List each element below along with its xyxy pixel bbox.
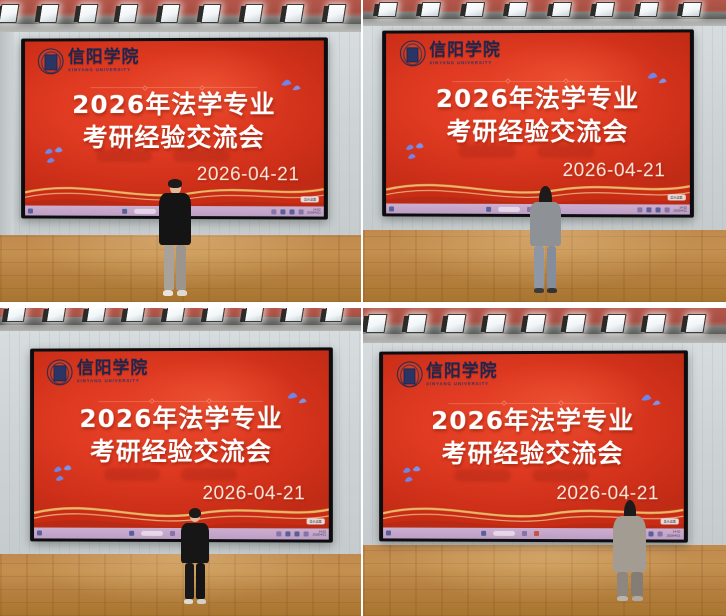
person-figure bbox=[159, 181, 191, 296]
university-name-cn: 信阳学院 bbox=[68, 49, 140, 66]
university-crest-icon bbox=[396, 362, 422, 388]
person-shoe bbox=[632, 596, 643, 601]
battery-icon[interactable] bbox=[298, 209, 303, 214]
taskbar-clock[interactable]: 14:52 2026/4/21 bbox=[666, 531, 680, 538]
stage-light-icon bbox=[551, 2, 572, 17]
person-torso bbox=[181, 523, 210, 563]
stage-light-icon bbox=[284, 308, 305, 322]
stage-light-icon bbox=[284, 4, 305, 23]
taskbar-center-group[interactable] bbox=[42, 531, 276, 537]
stage-light-icon bbox=[38, 4, 59, 23]
show-desktop-chip[interactable]: 显示桌面 bbox=[667, 194, 685, 200]
stage-light-icon bbox=[594, 2, 615, 17]
person-shoe bbox=[617, 596, 628, 601]
person-leg bbox=[534, 246, 544, 288]
battery-icon[interactable] bbox=[657, 532, 662, 537]
person-leg bbox=[196, 563, 205, 599]
person-shoes bbox=[613, 596, 646, 601]
person-shoes bbox=[530, 288, 561, 293]
stage-light-icon bbox=[125, 308, 146, 322]
ceiling-light-row bbox=[0, 2, 361, 32]
weather-widget-icon[interactable] bbox=[389, 206, 394, 211]
stage-floor bbox=[363, 545, 726, 616]
photo-panel-bottom-left[interactable]: 信阳学院 XINYANG UNIVERSITY 2026年法学专业 考研经验交流… bbox=[0, 308, 363, 616]
stage-light-icon bbox=[463, 2, 484, 17]
person-figure bbox=[613, 501, 646, 600]
screen-title-block: 2026年法学专业 考研经验交流会 bbox=[383, 404, 683, 470]
screen-date: 2026-04-21 bbox=[202, 483, 305, 505]
stage-scene: 信阳学院 XINYANG UNIVERSITY 2026年法学专业 考研经验交流… bbox=[0, 0, 361, 302]
taskbar-left-group[interactable] bbox=[389, 206, 394, 211]
person-leg bbox=[631, 572, 643, 596]
clock-date: 2026/4/21 bbox=[666, 534, 680, 537]
person-shoes bbox=[181, 599, 210, 604]
ceiling-light-row bbox=[363, 0, 726, 24]
bird-decoration-icon bbox=[285, 388, 311, 408]
battery-icon[interactable] bbox=[664, 207, 669, 212]
person-shoe bbox=[177, 290, 187, 296]
person-leg bbox=[176, 245, 186, 290]
clock-date: 2026/4/21 bbox=[674, 210, 688, 213]
battery-icon[interactable] bbox=[303, 531, 308, 536]
search-input[interactable] bbox=[141, 531, 163, 536]
photo-panel-top-right[interactable]: 信阳学院 XINYANG UNIVERSITY 2026年法学专业 考研经验交流… bbox=[363, 0, 726, 308]
stage-light-icon bbox=[376, 2, 397, 17]
university-logo: 信阳学院 XINYANG UNIVERSITY bbox=[47, 359, 148, 385]
stage-light-icon bbox=[244, 308, 265, 322]
taskbar-center-group[interactable] bbox=[394, 206, 637, 212]
stage-light-icon bbox=[165, 308, 186, 322]
screen-title-block: 2026年法学专业 考研经验交流会 bbox=[34, 402, 329, 468]
stage-light-icon bbox=[507, 2, 528, 17]
stage-light-icon bbox=[445, 314, 467, 333]
person-shoes bbox=[159, 290, 191, 296]
screen-date: 2026-04-21 bbox=[197, 163, 300, 185]
bird-decoration-icon bbox=[43, 146, 73, 170]
person-legs bbox=[613, 572, 646, 596]
volume-icon[interactable] bbox=[294, 531, 299, 536]
stage-light-icon bbox=[638, 2, 659, 17]
stage-light-icon bbox=[78, 4, 99, 23]
stage-light-icon bbox=[205, 308, 226, 322]
wall-side-panel bbox=[0, 32, 14, 236]
university-logo: 信阳学院 XINYANG UNIVERSITY bbox=[396, 362, 497, 388]
clock-date: 2026/4/21 bbox=[313, 534, 327, 537]
photo-panel-top-left[interactable]: 信阳学院 XINYANG UNIVERSITY 2026年法学专业 考研经验交流… bbox=[0, 0, 363, 308]
university-logo: 信阳学院 XINYANG UNIVERSITY bbox=[38, 48, 139, 74]
stage-light-icon bbox=[525, 314, 547, 333]
show-desktop-chip[interactable]: 显示桌面 bbox=[301, 196, 319, 202]
volume-icon[interactable] bbox=[655, 207, 660, 212]
person-shoe bbox=[163, 290, 173, 296]
stage-light-icon bbox=[118, 4, 139, 23]
person-legs bbox=[159, 245, 191, 290]
person-leg bbox=[617, 572, 629, 596]
university-logo: 信阳学院 XINYANG UNIVERSITY bbox=[400, 41, 501, 67]
volume-icon[interactable] bbox=[289, 209, 294, 214]
clock-date: 2026/4/21 bbox=[307, 211, 321, 214]
explorer-icon[interactable] bbox=[637, 207, 642, 212]
stage-light-icon bbox=[46, 308, 67, 322]
stage-light-icon bbox=[242, 4, 263, 23]
photo-panel-bottom-right[interactable]: 信阳学院 XINYANG UNIVERSITY 2026年法学专业 考研经验交流… bbox=[363, 308, 726, 616]
stage-light-icon bbox=[645, 314, 667, 333]
person-torso bbox=[613, 516, 646, 572]
taskbar-tray-group[interactable]: 14:52 2026/4/21 bbox=[271, 208, 321, 215]
screen-title-line1: 2026年法学专业 bbox=[383, 404, 683, 437]
university-crest-icon bbox=[38, 48, 64, 74]
explorer-icon[interactable] bbox=[276, 531, 281, 536]
stage-light-icon bbox=[605, 314, 627, 333]
university-name-en: XINYANG UNIVERSITY bbox=[426, 382, 498, 387]
bird-decoration-icon bbox=[279, 75, 305, 95]
taskbar-clock[interactable]: 14:52 2026/4/21 bbox=[674, 206, 688, 213]
stage-light-icon bbox=[324, 308, 345, 322]
bird-decoration-icon bbox=[51, 464, 81, 488]
person-figure bbox=[181, 509, 210, 603]
stage-scene: 信阳学院 XINYANG UNIVERSITY 2026年法学专业 考研经验交流… bbox=[363, 308, 726, 616]
taskbar-left-group[interactable] bbox=[386, 531, 391, 536]
person-legs bbox=[181, 563, 210, 599]
wifi-icon[interactable] bbox=[280, 209, 285, 214]
person-leg bbox=[164, 245, 174, 290]
university-name-en: XINYANG UNIVERSITY bbox=[68, 68, 140, 73]
university-name-en: XINYANG UNIVERSITY bbox=[77, 379, 149, 384]
person-head bbox=[625, 501, 635, 513]
search-input[interactable] bbox=[493, 531, 515, 536]
person-torso bbox=[530, 202, 561, 246]
taskbar-tray-group[interactable]: 14:52 2026/4/21 bbox=[637, 206, 687, 213]
stage-light-icon bbox=[325, 4, 346, 23]
taskbar-clock[interactable]: 14:52 2026/4/21 bbox=[313, 531, 327, 538]
stage-light-icon bbox=[365, 314, 387, 333]
stage-scene: 信阳学院 XINYANG UNIVERSITY 2026年法学专业 考研经验交流… bbox=[0, 308, 361, 616]
stage-scene: 信阳学院 XINYANG UNIVERSITY 2026年法学专业 考研经验交流… bbox=[363, 0, 726, 302]
explorer-icon[interactable] bbox=[271, 209, 276, 214]
person-shoe bbox=[184, 599, 193, 604]
weather-widget-icon[interactable] bbox=[28, 208, 33, 213]
bird-decoration-icon bbox=[638, 391, 664, 411]
stage-light-icon bbox=[420, 2, 441, 17]
start-icon[interactable] bbox=[481, 531, 486, 536]
university-name-cn: 信阳学院 bbox=[77, 360, 149, 377]
university-name-cn: 信阳学院 bbox=[426, 363, 498, 380]
ceiling-light-row bbox=[363, 311, 726, 342]
bird-decoration-icon bbox=[404, 142, 434, 166]
search-input[interactable] bbox=[498, 207, 520, 212]
screen-date: 2026-04-21 bbox=[563, 160, 666, 182]
wifi-icon[interactable] bbox=[285, 531, 290, 536]
bird-decoration-icon bbox=[645, 69, 671, 89]
university-crest-icon bbox=[47, 359, 73, 385]
photo-collage-grid: 信阳学院 XINYANG UNIVERSITY 2026年法学专业 考研经验交流… bbox=[0, 0, 726, 616]
university-name-cn: 信阳学院 bbox=[429, 42, 501, 59]
stage-light-icon bbox=[201, 4, 222, 23]
person-torso bbox=[159, 193, 191, 245]
ceiling-light-row bbox=[0, 308, 361, 330]
stage-light-icon bbox=[159, 4, 180, 23]
person-shoe bbox=[197, 599, 206, 604]
university-name-en: XINYANG UNIVERSITY bbox=[429, 61, 501, 66]
taskbar-clock[interactable]: 14:52 2026/4/21 bbox=[307, 208, 321, 215]
taskbar-left-group[interactable] bbox=[28, 208, 33, 213]
start-icon[interactable] bbox=[122, 208, 127, 213]
person-head bbox=[170, 181, 181, 194]
person-shoe bbox=[547, 288, 557, 293]
stage-light-icon bbox=[405, 314, 427, 333]
stage-light-icon bbox=[685, 314, 707, 333]
show-desktop-chip[interactable]: 显示桌面 bbox=[306, 518, 324, 524]
bird-decoration-icon bbox=[400, 465, 430, 489]
screen-title-block: 2026年法学专业 考研经验交流会 bbox=[25, 88, 324, 154]
taskbar-center-group[interactable] bbox=[390, 531, 630, 537]
person-head bbox=[540, 188, 550, 200]
show-desktop-chip[interactable]: 显示桌面 bbox=[660, 519, 678, 525]
person-hair bbox=[189, 508, 201, 519]
stage-light-icon bbox=[85, 308, 106, 322]
person-leg bbox=[185, 563, 194, 599]
stage-light-icon bbox=[681, 2, 702, 17]
stage-light-icon bbox=[565, 314, 587, 333]
person-figure bbox=[530, 188, 561, 293]
task-view-icon[interactable] bbox=[170, 531, 175, 536]
weather-widget-icon[interactable] bbox=[37, 530, 42, 535]
university-crest-icon bbox=[400, 41, 426, 67]
taskbar-tray-group[interactable]: 14:52 2026/4/21 bbox=[276, 531, 326, 538]
task-view-icon[interactable] bbox=[522, 531, 527, 536]
search-input[interactable] bbox=[134, 208, 156, 213]
person-hair bbox=[168, 179, 181, 188]
stage-light-icon bbox=[6, 308, 27, 322]
person-leg bbox=[547, 246, 557, 288]
taskbar-left-group[interactable] bbox=[37, 530, 42, 535]
weather-widget-icon[interactable] bbox=[386, 531, 391, 536]
person-head bbox=[190, 509, 200, 521]
stage-light-icon bbox=[485, 314, 507, 333]
taskbar-center-group[interactable] bbox=[33, 208, 271, 214]
start-icon[interactable] bbox=[486, 207, 491, 212]
volume-icon[interactable] bbox=[648, 532, 653, 537]
start-icon[interactable] bbox=[129, 531, 134, 536]
wifi-icon[interactable] bbox=[646, 207, 651, 212]
browser-icon[interactable] bbox=[534, 531, 539, 536]
screen-title-block: 2026年法学专业 考研经验交流会 bbox=[386, 82, 690, 148]
person-legs bbox=[530, 246, 561, 288]
person-shoe bbox=[534, 288, 544, 293]
stage-light-icon bbox=[0, 4, 20, 23]
